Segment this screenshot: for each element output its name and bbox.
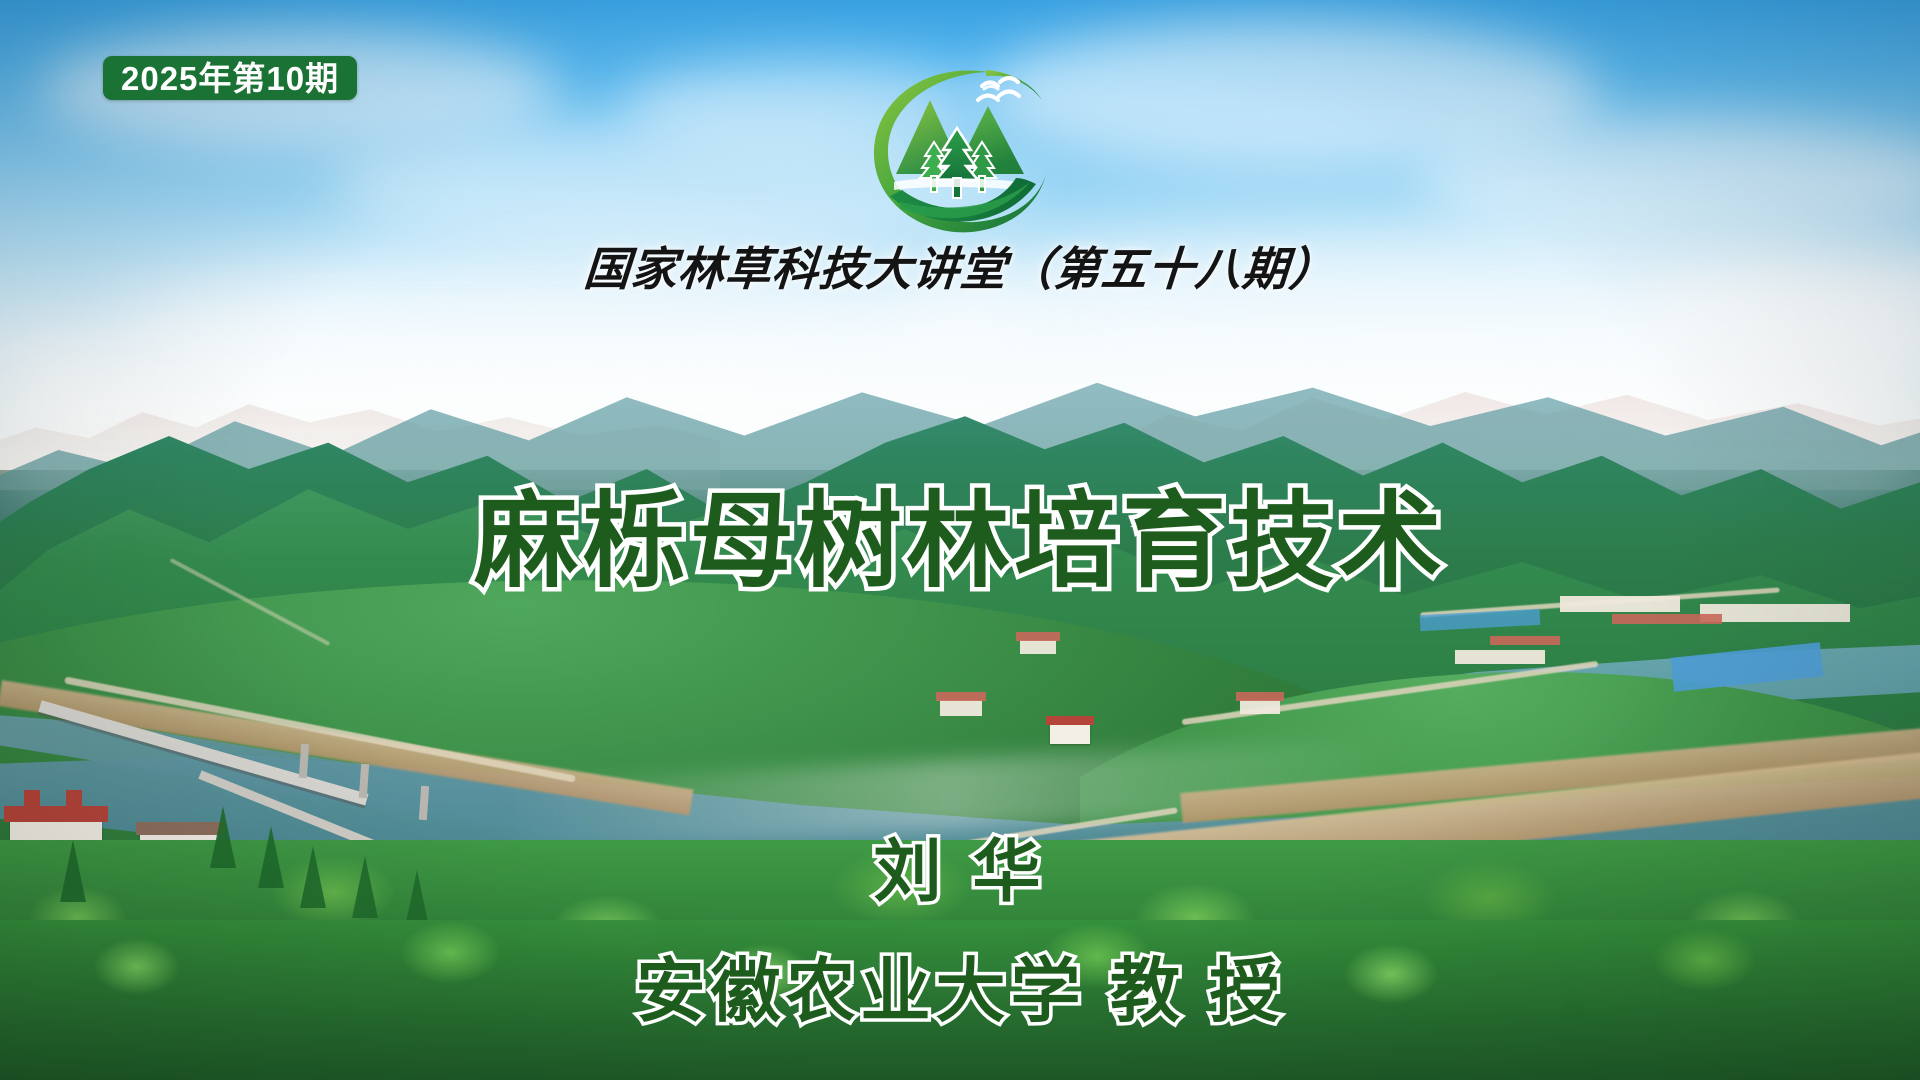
- lecture-series-title: 国家林草科技大讲堂（第五十八期）: [582, 244, 1338, 295]
- page-title: 麻栎母树林培育技术: [0, 490, 1920, 594]
- town-building: [1560, 596, 1680, 612]
- speaker-name: 刘 华: [0, 838, 1920, 906]
- village-roof: [936, 692, 986, 701]
- village-house: [1020, 640, 1056, 654]
- roof-turret: [66, 790, 82, 810]
- town-building: [1455, 650, 1545, 664]
- speaker-affiliation: 安徽农业大学 教 授: [0, 956, 1920, 1026]
- town-building: [1700, 604, 1850, 622]
- forest-mountain-circle-logo: [859, 56, 1061, 238]
- village-roof: [1236, 692, 1284, 701]
- town-roof: [1612, 614, 1722, 624]
- village-building: [1050, 724, 1090, 744]
- village-roof: [4, 806, 108, 822]
- village-roof: [1046, 716, 1094, 725]
- brand-block: 国家林草科技大讲堂（第五十八期）: [0, 56, 1920, 295]
- village-roof: [1016, 632, 1060, 641]
- poster-slide: 2025年第10期: [0, 0, 1920, 1080]
- village-house: [940, 700, 982, 716]
- town-roof: [1490, 636, 1560, 645]
- village-house: [1240, 700, 1280, 714]
- roof-turret: [24, 790, 40, 810]
